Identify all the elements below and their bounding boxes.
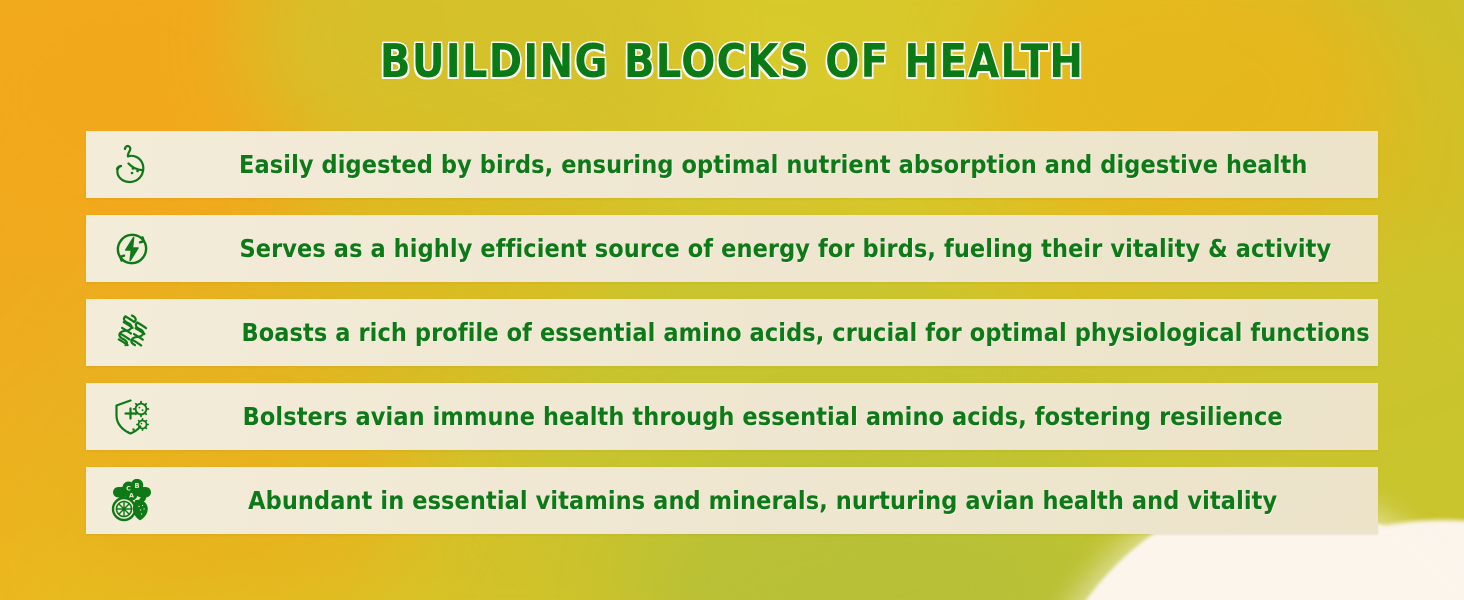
page-title: BUILDING BLOCKS OF HEALTH xyxy=(88,34,1376,88)
list-item: Easily digested by birds, ensuring optim… xyxy=(86,131,1378,198)
list-item: Bolsters avian immune health through ess… xyxy=(86,383,1378,450)
fruits-vitamins-icon: C B A xyxy=(86,467,178,534)
vitamin-a-label: A xyxy=(129,491,134,499)
benefit-text: Abundant in essential vitamins and miner… xyxy=(238,486,1318,515)
benefit-text: Serves as a highly efficient source of e… xyxy=(239,234,1345,263)
list-item: C B A Abundant i xyxy=(86,467,1378,534)
stomach-digestion-icon xyxy=(86,131,178,198)
benefit-text: Easily digested by birds, ensuring optim… xyxy=(239,150,1338,179)
benefit-text: Boasts a rich profile of essential amino… xyxy=(241,318,1384,347)
list-item: Serves as a highly efficient source of e… xyxy=(86,215,1378,282)
vitamin-b-label: B xyxy=(134,481,139,489)
energy-bolt-cycle-icon xyxy=(86,215,178,282)
list-item: Boasts a rich profile of essential amino… xyxy=(86,299,1378,366)
immune-shield-germs-icon xyxy=(86,383,178,450)
benefit-text: Bolsters avian immune health through ess… xyxy=(238,402,1318,431)
protein-helix-icon xyxy=(86,299,178,366)
infographic-banner: BUILDING BLOCKS OF HEALTH E xyxy=(0,0,1464,600)
benefits-list: Easily digested by birds, ensuring optim… xyxy=(86,131,1378,534)
